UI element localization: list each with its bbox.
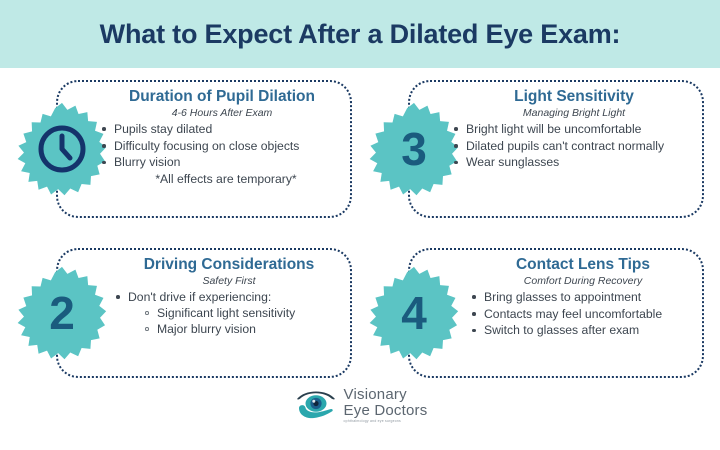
list-item: Bright light will be uncomfortable [452,121,696,137]
card-badge: 3 [366,101,462,197]
list-item: Blurry vision [100,154,344,170]
brand-tagline: ophthalmology and eye surgeons [344,420,428,423]
card-content: Duration of Pupil Dilation 4-6 Hours Aft… [100,88,344,214]
list-item: Switch to glasses after exam [470,322,696,338]
card-note: *All effects are temporary* [100,171,344,187]
list-item-label: Don't drive if experiencing: [128,290,271,304]
card-bullet-list: Don't drive if experiencing: Significant… [114,289,344,338]
card-badge [14,101,110,197]
list-item: Difficulty focusing on close objects [100,138,344,154]
card-content: Driving Considerations Safety First Don'… [114,256,344,374]
card-contact-lens-tips[interactable]: 4 Contact Lens Tips Comfort During Recov… [366,248,712,378]
list-item: Pupils stay dilated [100,121,344,137]
card-badge: 2 [14,265,110,361]
brand-name-line2: Eye Doctors [344,403,428,418]
card-content: Contact Lens Tips Comfort During Recover… [470,256,696,374]
list-item: Contacts may feel uncomfortable [470,306,696,322]
card-subtitle: 4-6 Hours After Exam [100,107,344,119]
list-item: Wear sunglasses [452,154,696,170]
card-title: Driving Considerations [114,256,344,274]
card-subtitle: Safety First [114,275,344,287]
card-bullet-list: Pupils stay dilated Difficulty focusing … [100,121,344,171]
card-title: Contact Lens Tips [470,256,696,274]
badge-number: 4 [401,290,427,336]
list-item: Dilated pupils can't contract normally [452,138,696,154]
nested-list: Significant light sensitivity Major blur… [128,305,344,337]
brand-name-line1: Visionary [344,387,428,402]
header-band: What to Expect After a Dilated Eye Exam: [0,0,720,68]
card-content: Light Sensitivity Managing Bright Light … [452,88,696,214]
brand-logo[interactable]: Visionary Eye Doctors ophthalmology and … [293,386,428,424]
card-subtitle: Comfort During Recovery [470,275,696,287]
badge-number: 2 [49,290,75,336]
card-light-sensitivity[interactable]: 3 Light Sensitivity Managing Bright Ligh… [366,80,712,218]
card-duration-of-pupil-dilation[interactable]: Duration of Pupil Dilation 4-6 Hours Aft… [14,80,360,218]
badge-number: 3 [401,126,427,172]
eye-in-hand-icon [293,386,339,424]
nested-list-item: Major blurry vision [144,321,344,337]
card-grid: Duration of Pupil Dilation 4-6 Hours Aft… [0,68,720,383]
card-title: Duration of Pupil Dilation [100,88,344,106]
card-driving-considerations[interactable]: 2 Driving Considerations Safety First Do… [14,248,360,378]
card-bullet-list: Bright light will be uncomfortable Dilat… [452,121,696,171]
card-bullet-list: Bring glasses to appointment Contacts ma… [470,289,696,339]
list-item: Bring glasses to appointment [470,289,696,305]
card-title: Light Sensitivity [452,88,696,106]
card-subtitle: Managing Bright Light [452,107,696,119]
brand-text: Visionary Eye Doctors ophthalmology and … [344,387,428,423]
list-item: Don't drive if experiencing: Significant… [114,289,344,338]
footer: Visionary Eye Doctors ophthalmology and … [0,386,720,450]
card-badge: 4 [366,265,462,361]
clock-icon [35,122,89,176]
nested-list-item: Significant light sensitivity [144,305,344,321]
page-title: What to Expect After a Dilated Eye Exam: [100,19,621,50]
